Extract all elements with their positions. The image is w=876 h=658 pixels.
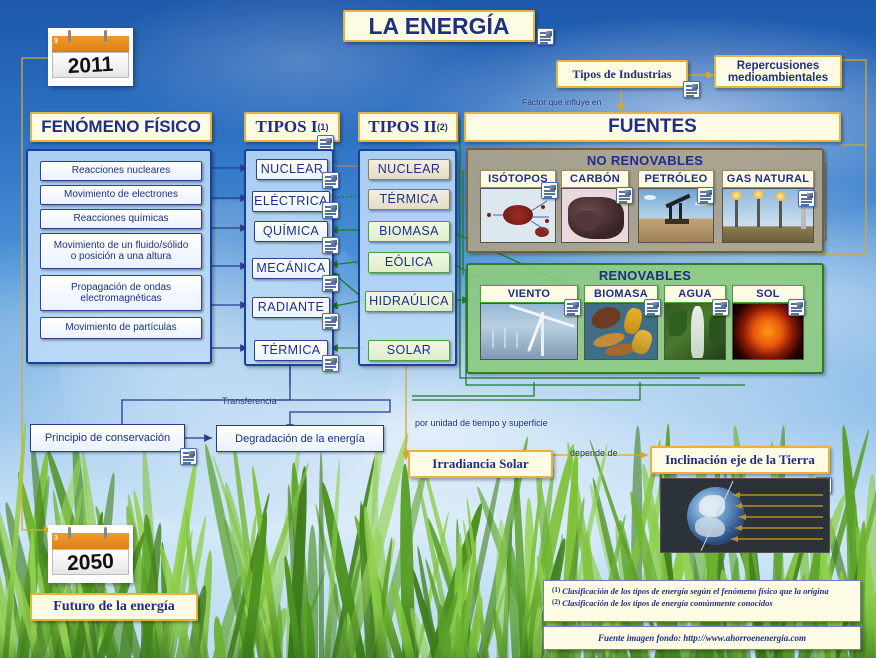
note-icon-agua[interactable]: [712, 299, 729, 316]
tipos1-item-3[interactable]: MECÁNICA: [252, 258, 330, 279]
fenomeno-item-3-label: Movimiento de un fluido/sólidoo posición…: [54, 240, 189, 263]
principio-conservacion-box[interactable]: Principio de conservación: [30, 424, 185, 452]
earth-axis-image: [660, 478, 830, 553]
note-icon-gas[interactable]: [798, 190, 815, 207]
fenomeno-item-5-label: Movimiento de partículas: [65, 322, 176, 334]
tipos2-item-0-label: NUCLEAR: [378, 162, 441, 176]
footnotes-box: (1) Clasificación de los tipos de energí…: [543, 580, 861, 622]
fuente-gas-text: GAS NATURAL: [727, 173, 810, 185]
inclinacion-eje-label: Inclinación eje de la Tierra: [665, 452, 815, 468]
note-icon-viento[interactable]: [564, 299, 581, 316]
fenomeno-item-1-label: Movimiento de electrones: [64, 189, 178, 201]
note-icon-tipos1-nuclear[interactable]: [322, 172, 339, 189]
note-icon-tipos1-radiante[interactable]: [322, 313, 339, 330]
note-icon-biomasa[interactable]: [644, 299, 661, 316]
note-icon-isotopos[interactable]: [541, 182, 558, 199]
fenomeno-item-4[interactable]: Propagación de ondaselectromagnéticas: [40, 275, 202, 311]
source-box: Fuente imagen fondo: http://www.ahorroen…: [543, 626, 861, 650]
fuente-agua-text: AGUA: [678, 288, 712, 300]
tipos2-item-2[interactable]: BIOMASA: [368, 221, 450, 242]
tipos2-item-5[interactable]: SOLAR: [368, 340, 450, 361]
calendar-2011: 3 2011: [48, 28, 133, 86]
degradacion-energia-label: Degradación de la energía: [235, 433, 365, 445]
fuentes-header: FUENTES: [464, 112, 841, 142]
fenomeno-item-2-label: Reacciones químicas: [73, 213, 168, 225]
fenomeno-fisico-header-text: FENÓMENO FÍSICO: [41, 117, 201, 137]
tipos2-item-1-label: TÉRMICA: [379, 192, 438, 206]
note-icon-tipos1-electrica[interactable]: [322, 202, 339, 219]
footnote-2-text: Clasificación de los tipos de energía co…: [562, 598, 772, 609]
fenomeno-item-2[interactable]: Reacciones químicas: [40, 209, 202, 229]
footnote-1: (1) Clasificación de los tipos de energí…: [552, 586, 852, 597]
tipos2-panel: NUCLEAR TÉRMICA BIOMASA EÓLICA HIDRAÚLIC…: [358, 149, 457, 366]
tipos1-item-3-label: MECÁNICA: [256, 261, 325, 275]
tipos2-item-3-label: EÓLICA: [385, 255, 433, 269]
footnote-1-text: Clasificación de los tipos de energía se…: [562, 586, 828, 597]
tipos1-item-4-label: RADIANTE: [258, 300, 324, 314]
renovables-title: RENOVABLES: [468, 268, 822, 283]
fuentes-header-text: FUENTES: [608, 116, 697, 138]
fuente-viento-text: VIENTO: [508, 288, 551, 300]
tipos1-header-text: TIPOS I: [256, 117, 318, 137]
fenomeno-item-0-label: Reacciones nucleares: [72, 165, 170, 177]
fenomeno-item-5[interactable]: Movimiento de partículas: [40, 317, 202, 339]
tipos1-item-1-label: ELÉCTRICA: [254, 194, 328, 208]
fenomeno-fisico-header: FENÓMENO FÍSICO: [30, 112, 212, 142]
repercusiones-line2: medioambientales: [728, 72, 828, 84]
fenomeno-item-3[interactable]: Movimiento de un fluido/sólidoo posición…: [40, 233, 202, 269]
calendar-2011-year: 2011: [47, 52, 133, 80]
depende-de-label: depende de: [570, 448, 618, 458]
tipos2-item-3[interactable]: EÓLICA: [368, 252, 450, 273]
fuente-petroleo-text: PETRÓLEO: [645, 173, 708, 185]
footnote-2-marker: (2): [552, 598, 560, 609]
tipos2-item-4-label: HIDRAÚLICA: [369, 294, 449, 308]
note-icon-petroleo[interactable]: [697, 187, 714, 204]
note-icon-title[interactable]: [537, 28, 554, 45]
tipos1-superscript: (1): [317, 122, 328, 132]
tipos1-item-5[interactable]: TÉRMICA: [254, 340, 328, 361]
tipos1-panel: NUCLEAR ELÉCTRICA QUÍMICA MECÁNICA RADIA…: [244, 149, 334, 366]
calendar-2050-day: 3: [54, 535, 58, 542]
tipos2-header: TIPOS II (2): [358, 112, 458, 142]
tipos2-item-4[interactable]: HIDRAÚLICA: [365, 291, 453, 312]
fuente-carbon-text: CARBÓN: [570, 173, 620, 185]
por-unidad-label: por unidad de tiempo y superficie: [415, 418, 548, 428]
fenomeno-item-0[interactable]: Reacciones nucleares: [40, 161, 202, 181]
fenomeno-item-4-label: Propagación de ondaselectromagnéticas: [71, 282, 171, 305]
irradiancia-solar-label: Irradiancia Solar: [432, 456, 528, 472]
fuente-gas-label[interactable]: GAS NATURAL: [722, 170, 814, 188]
note-icon-carbon[interactable]: [616, 187, 633, 204]
calendar-2011-day: 3: [54, 38, 58, 45]
futuro-energia-label: Futuro de la energía: [53, 599, 174, 615]
calendar-2050-year: 2050: [47, 549, 133, 577]
note-icon-tipos1-termica[interactable]: [322, 355, 339, 372]
source-text: Fuente imagen fondo: http://www.ahorroen…: [598, 633, 806, 643]
energy-concept-map: 3 2011 LA ENERGÍA Tipos de Industrias Re…: [0, 0, 876, 658]
tipos1-item-5-label: TÉRMICA: [261, 343, 320, 357]
note-icon-industrias[interactable]: [683, 81, 700, 98]
tipos1-item-4[interactable]: RADIANTE: [252, 297, 330, 318]
fenomeno-item-1[interactable]: Movimiento de electrones: [40, 185, 202, 205]
tipos1-item-0[interactable]: NUCLEAR: [256, 159, 328, 180]
note-icon-tipos1-mecanica[interactable]: [322, 275, 339, 292]
tipos-industrias-label: Tipos de Industrias: [572, 67, 671, 82]
no-renovables-title: NO RENOVABLES: [468, 153, 822, 168]
tipos2-item-0[interactable]: NUCLEAR: [368, 159, 450, 180]
irradiancia-solar-box[interactable]: Irradiancia Solar: [408, 450, 553, 478]
tipos2-header-text: TIPOS II: [368, 117, 437, 137]
fuente-isotopos-text: ISÓTOPOS: [488, 173, 548, 185]
tipos1-item-2-label: QUÍMICA: [263, 224, 319, 238]
fuente-sol-text: SOL: [756, 288, 780, 300]
page-title: LA ENERGÍA: [343, 10, 535, 42]
note-icon-tipos1-quimica[interactable]: [322, 237, 339, 254]
tipos2-superscript: (2): [437, 122, 448, 132]
fenomeno-fisico-panel: Reacciones nucleares Movimiento de elect…: [26, 149, 212, 364]
fuente-carbon-label[interactable]: CARBÓN: [561, 170, 629, 188]
tipos2-item-2-label: BIOMASA: [379, 224, 439, 238]
footnote-1-marker: (1): [552, 586, 560, 597]
renovables-group: RENOVABLES VIENTO BIOMASA AGUA SOL: [466, 263, 824, 374]
tipos2-item-1[interactable]: TÉRMICA: [368, 189, 450, 210]
principio-conservacion-label: Principio de conservación: [45, 432, 170, 444]
transferencia-label: Transferencia: [222, 396, 277, 406]
note-icon-principio[interactable]: [180, 448, 197, 465]
tipos1-item-0-label: NUCLEAR: [261, 162, 324, 176]
note-icon-sol[interactable]: [788, 299, 805, 316]
page-title-text: LA ENERGÍA: [369, 13, 510, 40]
tipos-industrias-box[interactable]: Tipos de Industrias: [556, 60, 688, 88]
fuente-petroleo-label[interactable]: PETRÓLEO: [638, 170, 714, 188]
factor-influye-label: Factor que influye en: [522, 97, 601, 107]
footnote-2: (2) Clasificación de los tipos de energí…: [552, 598, 852, 609]
no-renovables-group: NO RENOVABLES ISÓTOPOS CARBÓN PETRÓLEO: [466, 148, 824, 253]
fuente-biomasa-text: BIOMASA: [594, 288, 648, 300]
calendar-2050: 3 2050: [48, 525, 133, 583]
inclinacion-eje-box[interactable]: Inclinación eje de la Tierra: [650, 446, 830, 474]
degradacion-energia-box[interactable]: Degradación de la energía: [216, 425, 384, 452]
repercusiones-line1: Repercusiones: [737, 60, 819, 72]
tipos1-item-1[interactable]: ELÉCTRICA: [252, 191, 330, 212]
tipos1-item-2[interactable]: QUÍMICA: [254, 221, 328, 242]
futuro-energia-box[interactable]: Futuro de la energía: [30, 593, 198, 621]
tipos2-item-5-label: SOLAR: [387, 343, 431, 357]
repercusiones-box[interactable]: Repercusiones medioambientales: [714, 55, 842, 88]
